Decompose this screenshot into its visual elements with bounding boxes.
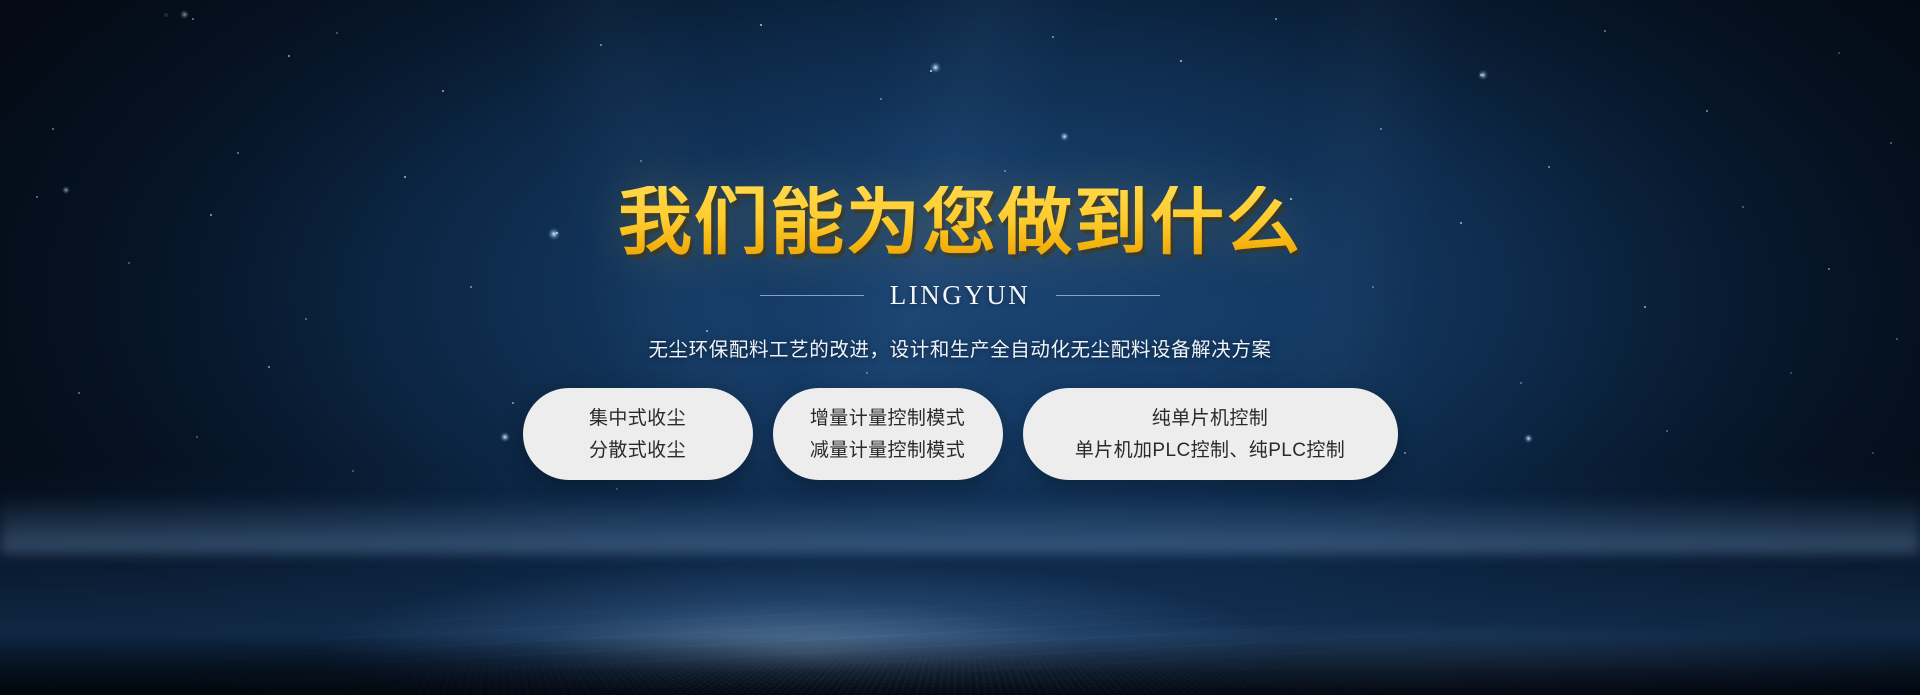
hero-banner: 我们能为您做到什么 LINGYUN 无尘环保配料工艺的改进，设计和生产全自动化无… [0,0,1920,695]
subtitle: 无尘环保配料工艺的改进，设计和生产全自动化无尘配料设备解决方案 [648,333,1271,362]
feature-pill-dust-collection[interactable]: 集中式收尘 分散式收尘 [523,388,753,480]
banner-content: 我们能为您做到什么 LINGYUN 无尘环保配料工艺的改进，设计和生产全自动化无… [0,0,1920,695]
pill-line: 纯单片机控制 [1152,409,1268,428]
feature-pill-weighing-mode[interactable]: 增量计量控制模式 减量计量控制模式 [773,388,1003,480]
divider-line-right [1056,295,1160,296]
feature-pill-group: 集中式收尘 分散式收尘 增量计量控制模式 减量计量控制模式 纯单片机控制 单片机… [523,388,1398,480]
brand-row: LINGYUN [760,280,1160,311]
brand-name: LINGYUN [890,280,1030,311]
pill-line: 分散式收尘 [589,441,686,460]
pill-line: 集中式收尘 [589,409,686,428]
pill-line: 增量计量控制模式 [810,409,965,428]
divider-line-left [760,295,864,296]
page-title: 我们能为您做到什么 [618,186,1302,260]
pill-line: 减量计量控制模式 [810,441,965,460]
pill-line: 单片机加PLC控制、纯PLC控制 [1075,441,1345,460]
feature-pill-control-system[interactable]: 纯单片机控制 单片机加PLC控制、纯PLC控制 [1023,388,1398,480]
